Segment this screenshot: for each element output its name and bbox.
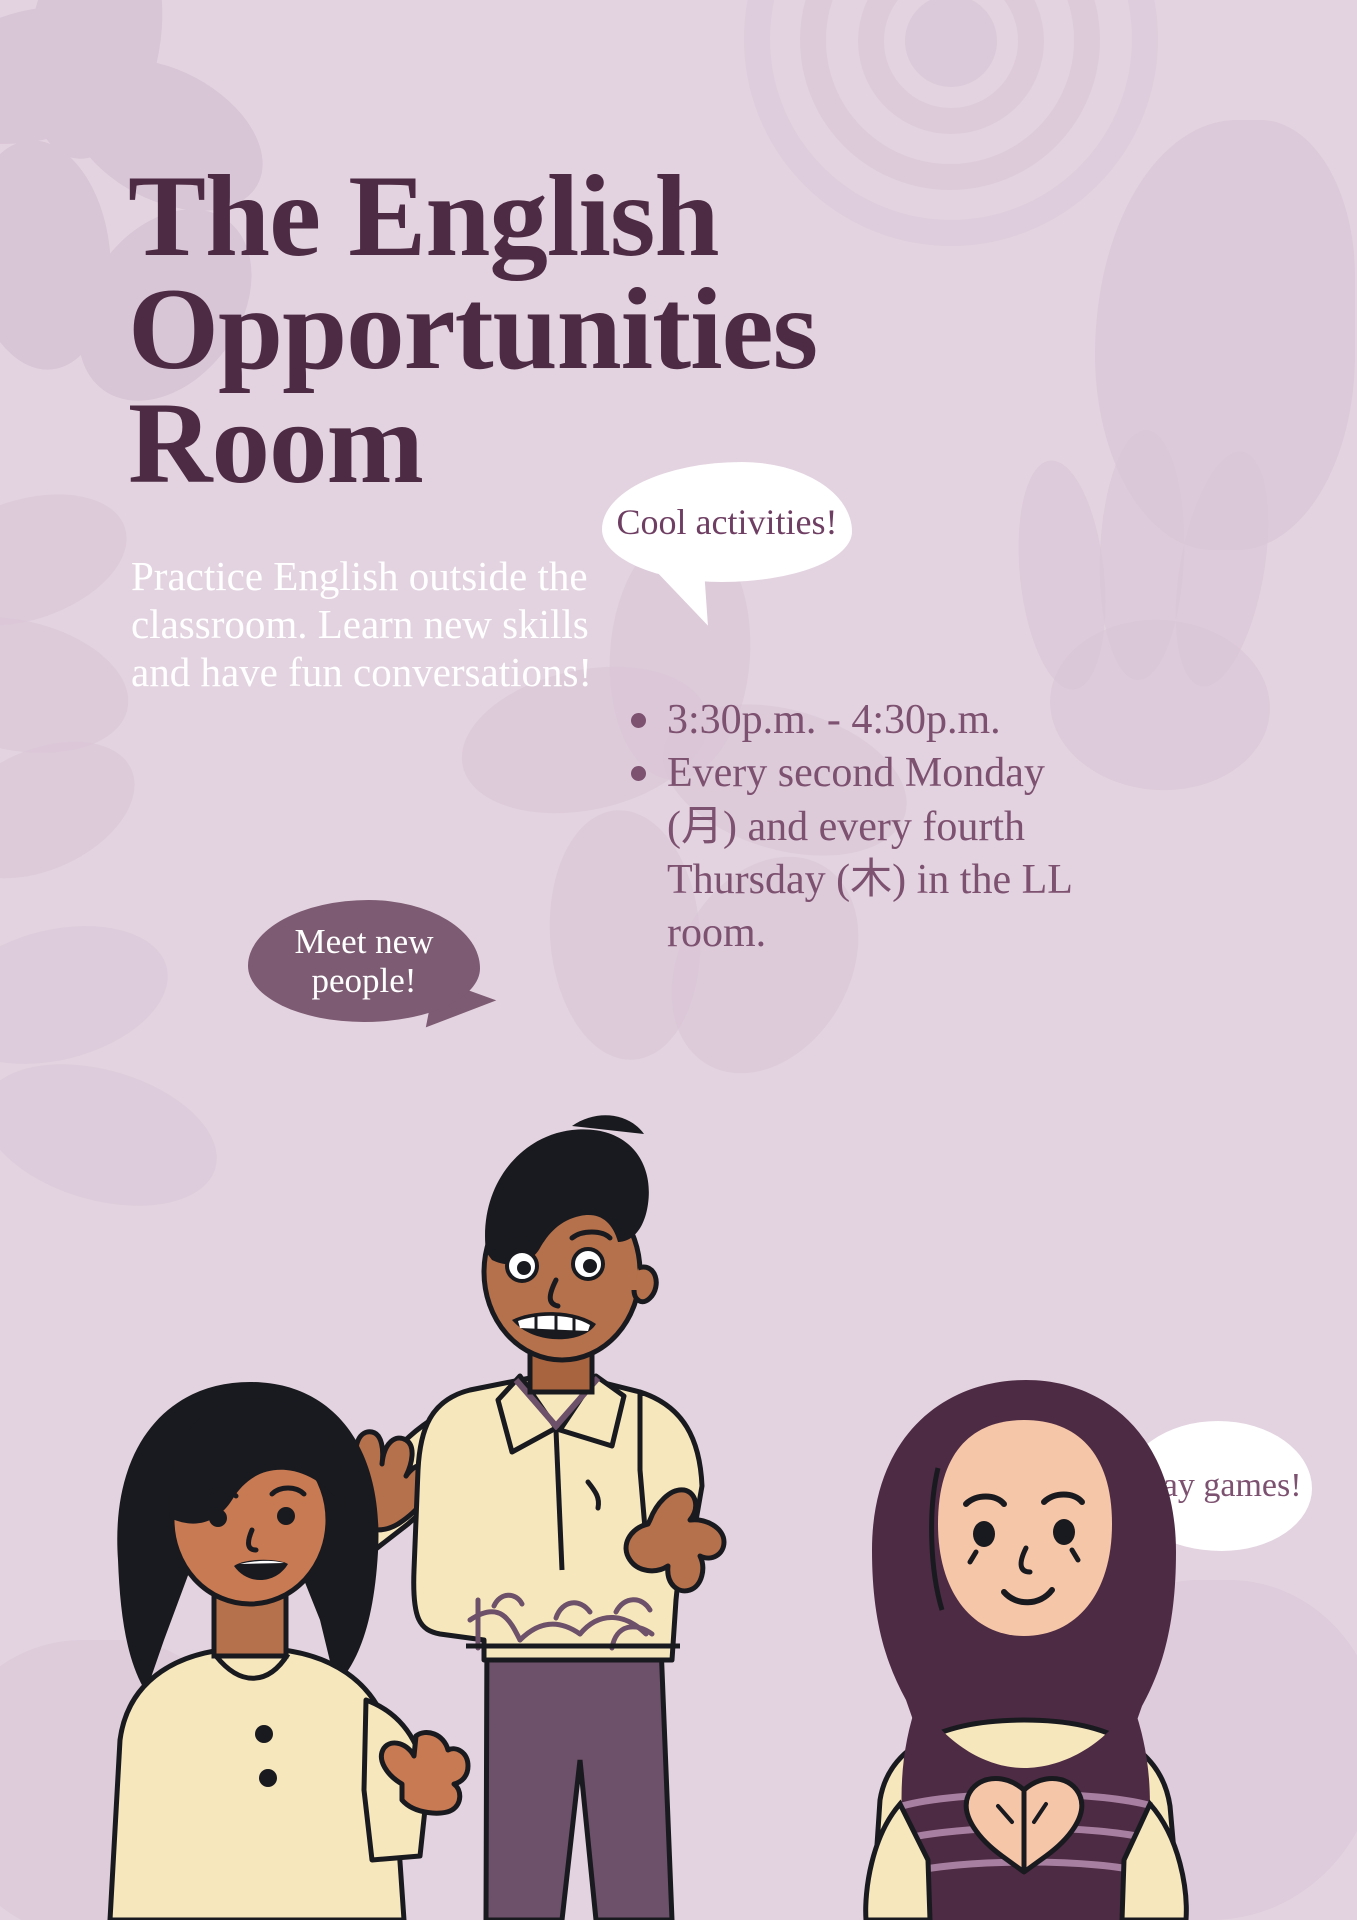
title-line-3: Room	[128, 379, 423, 508]
figure-woman-hijab-heart-hands	[866, 1380, 1187, 1920]
speech-bubble-cool-activities: Cool activities!	[602, 462, 852, 582]
page-title: The English Opportunities Room	[128, 160, 1068, 500]
list-item: 3:30p.m. - 4:30p.m.	[625, 694, 1105, 747]
people-illustration	[0, 1100, 1357, 1920]
schedule-details-list: 3:30p.m. - 4:30p.m. Every second Monday …	[625, 694, 1105, 961]
list-item: Every second Monday (月) and every fourth…	[625, 747, 1105, 960]
title-line-1: The English	[128, 152, 719, 281]
leaf-shape-right	[1095, 120, 1355, 550]
title-line-2: Opportunities	[128, 265, 817, 394]
speech-bubble-text: Cool activities!	[602, 462, 852, 582]
poster-canvas: The English Opportunities Room Practice …	[0, 0, 1357, 1920]
speech-bubble-tail-icon	[638, 568, 708, 630]
subtitle-text: Practice English outside the classroom. …	[131, 553, 651, 697]
speech-bubble-meet-new-people: Meet new people!	[248, 900, 480, 1022]
speech-bubble-text: Meet new people!	[248, 900, 480, 1022]
